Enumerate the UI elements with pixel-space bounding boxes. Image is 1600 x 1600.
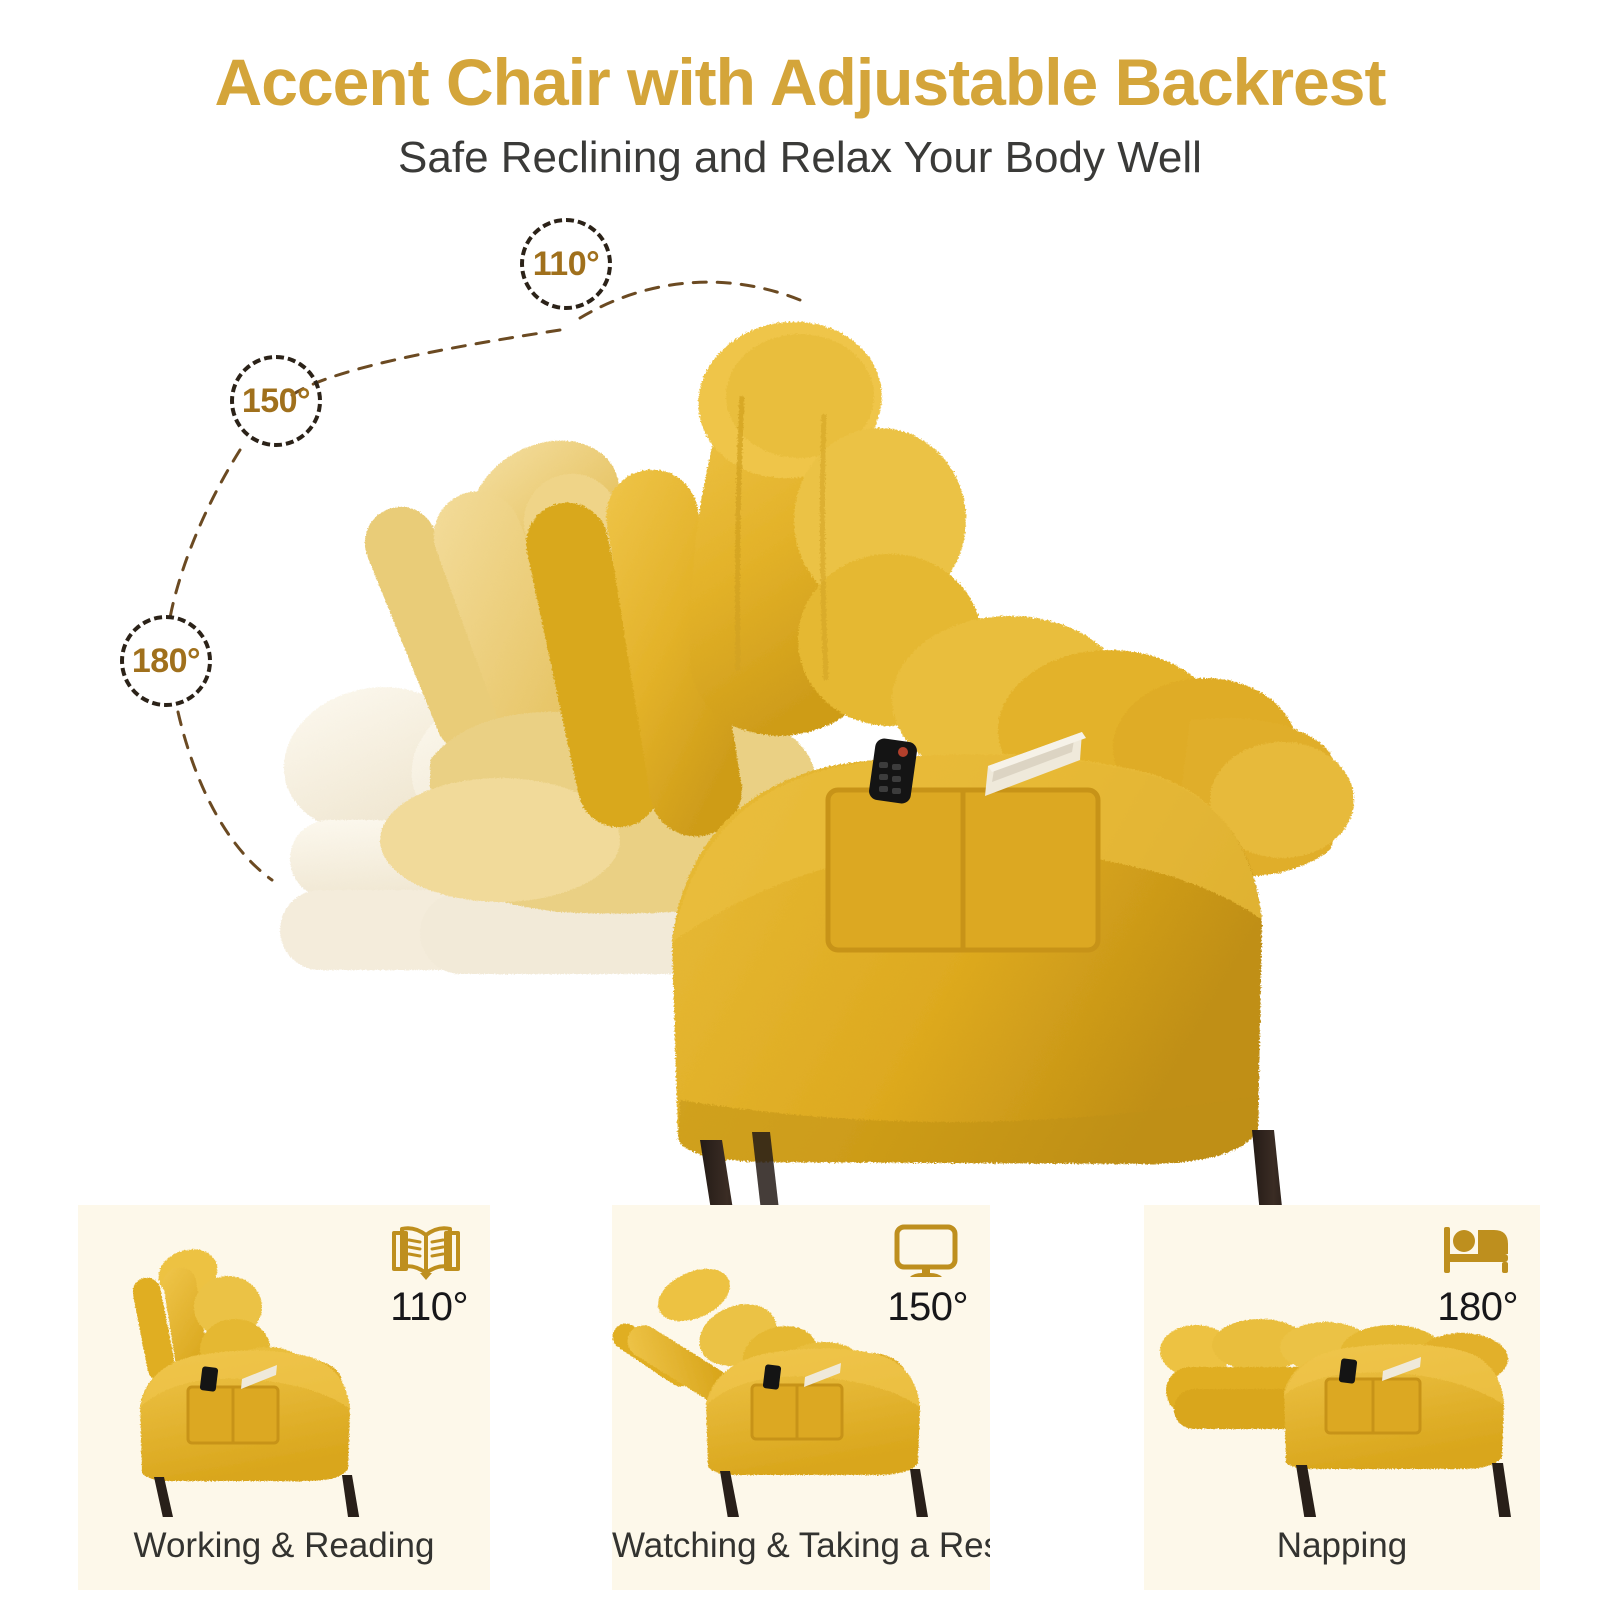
bed-icon [1438,1219,1514,1287]
remote-control [868,737,918,804]
panel-angle-180: 180° [1437,1285,1518,1330]
panel-caption-watching-rest: Watching & Taking a Rest [612,1526,990,1566]
panel-angle-110: 110° [390,1285,468,1330]
panel-caption-working-reading: Working & Reading [78,1526,490,1566]
page-title: Accent Chair with Adjustable Backrest [0,44,1600,120]
panel-napping[interactable]: 180° Napping [1144,1205,1540,1590]
usage-mode-panels: 110° Working & Reading [0,1205,1600,1590]
product-infographic: Accent Chair with Adjustable Backrest Sa… [0,0,1600,1600]
panel-watching-rest[interactable]: 150° Watching & Taking a Rest [612,1205,990,1590]
page-subtitle: Safe Reclining and Relax Your Body Well [0,133,1600,183]
panel-caption-napping: Napping [1144,1526,1540,1566]
monitor-icon [888,1219,964,1287]
panel-working-reading[interactable]: 110° Working & Reading [78,1205,490,1590]
hero-chair-illustration [0,200,1600,1210]
main-chair-110 [519,310,1354,1210]
side-pockets [828,790,1098,950]
panel-angle-150: 150° [887,1285,968,1330]
open-book-icon [388,1219,464,1287]
